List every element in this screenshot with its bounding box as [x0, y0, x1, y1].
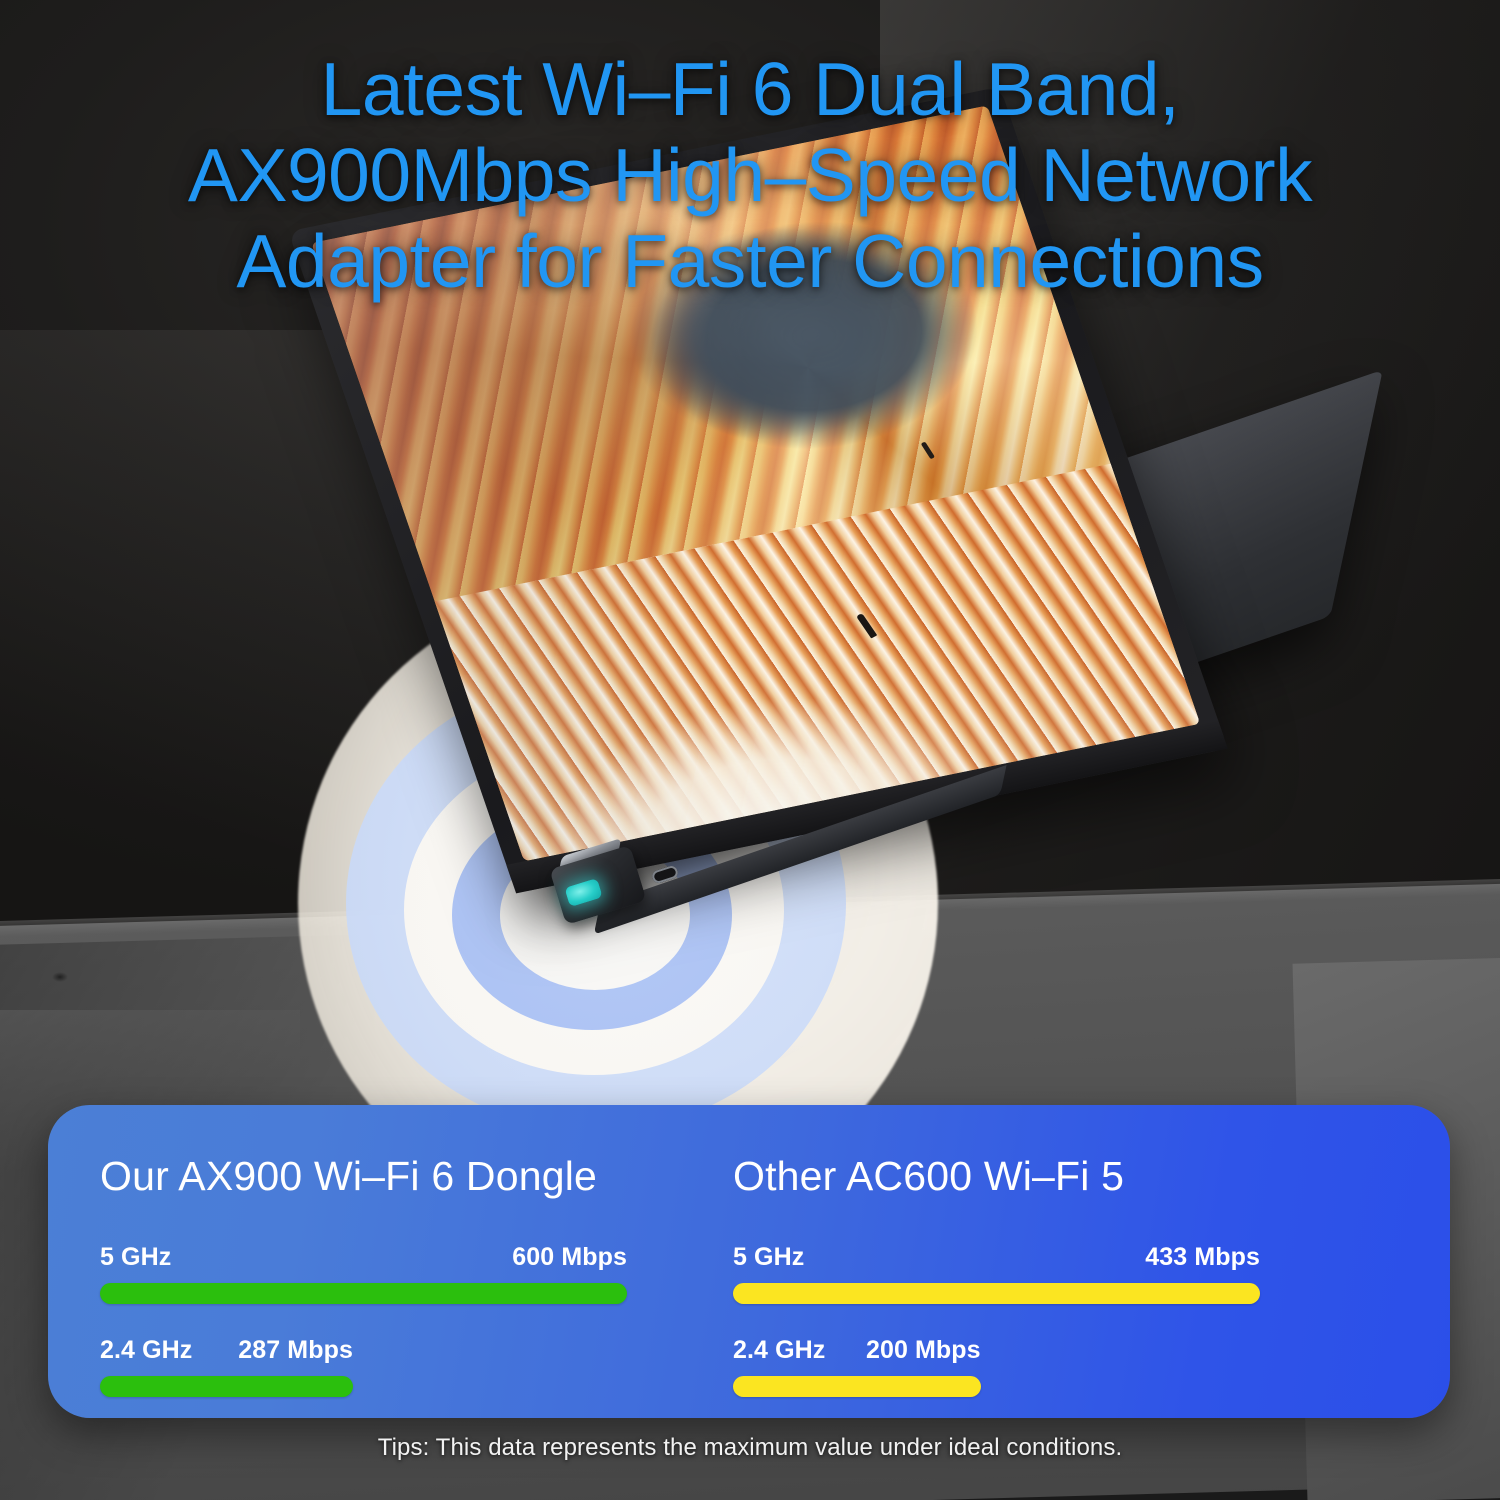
- band-value: 200 Mbps: [866, 1336, 981, 1365]
- bar-block-other-24ghz: 2.4 GHz 200 Mbps: [733, 1336, 1260, 1397]
- bar-fill: [100, 1283, 627, 1304]
- headline-line-2: AX900Mbps High–Speed Network: [0, 132, 1500, 218]
- bar-block-other-5ghz: 5 GHz 433 Mbps: [733, 1243, 1260, 1304]
- comparison-panel: Our AX900 Wi–Fi 6 Dongle 5 GHz 600 Mbps …: [48, 1105, 1450, 1418]
- bar-track: [100, 1376, 627, 1397]
- bar-block-ours-5ghz: 5 GHz 600 Mbps: [100, 1243, 627, 1304]
- bar-track: [100, 1283, 627, 1304]
- band-value: 433 Mbps: [1145, 1243, 1260, 1272]
- column-title-other: Other AC600 Wi–Fi 5: [733, 1153, 1260, 1199]
- bar-group-other: 5 GHz 433 Mbps 2.4 GHz 200 Mbps: [733, 1243, 1260, 1397]
- comparison-column-other: Other AC600 Wi–Fi 5 5 GHz 433 Mbps 2.4 G…: [693, 1105, 1450, 1418]
- comparison-column-ours: Our AX900 Wi–Fi 6 Dongle 5 GHz 600 Mbps …: [48, 1105, 693, 1418]
- footer-tip: Tips: This data represents the maximum v…: [0, 1434, 1500, 1462]
- band-label: 2.4 GHz: [733, 1336, 825, 1365]
- bar-track: [733, 1283, 1260, 1304]
- bar-head: 2.4 GHz 200 Mbps: [733, 1336, 981, 1365]
- band-value: 600 Mbps: [512, 1243, 627, 1272]
- column-title-ours: Our AX900 Wi–Fi 6 Dongle: [100, 1153, 627, 1199]
- bar-block-ours-24ghz: 2.4 GHz 287 Mbps: [100, 1336, 627, 1397]
- bar-fill: [100, 1376, 353, 1397]
- bar-fill: [733, 1283, 1260, 1304]
- band-label: 5 GHz: [733, 1243, 804, 1272]
- bar-head: 2.4 GHz 287 Mbps: [100, 1336, 353, 1365]
- bar-head: 5 GHz 433 Mbps: [733, 1243, 1260, 1272]
- band-value: 287 Mbps: [238, 1336, 353, 1365]
- bar-track: [733, 1376, 1260, 1397]
- bar-fill: [733, 1376, 981, 1397]
- bar-head: 5 GHz 600 Mbps: [100, 1243, 627, 1272]
- band-label: 2.4 GHz: [100, 1336, 192, 1365]
- headline-line-3: Adapter for Faster Connections: [0, 218, 1500, 304]
- headline-line-1: Latest Wi–Fi 6 Dual Band,: [0, 46, 1500, 132]
- bar-group-ours: 5 GHz 600 Mbps 2.4 GHz 287 Mbps: [100, 1243, 627, 1397]
- page-title: Latest Wi–Fi 6 Dual Band, AX900Mbps High…: [0, 46, 1500, 304]
- band-label: 5 GHz: [100, 1243, 171, 1272]
